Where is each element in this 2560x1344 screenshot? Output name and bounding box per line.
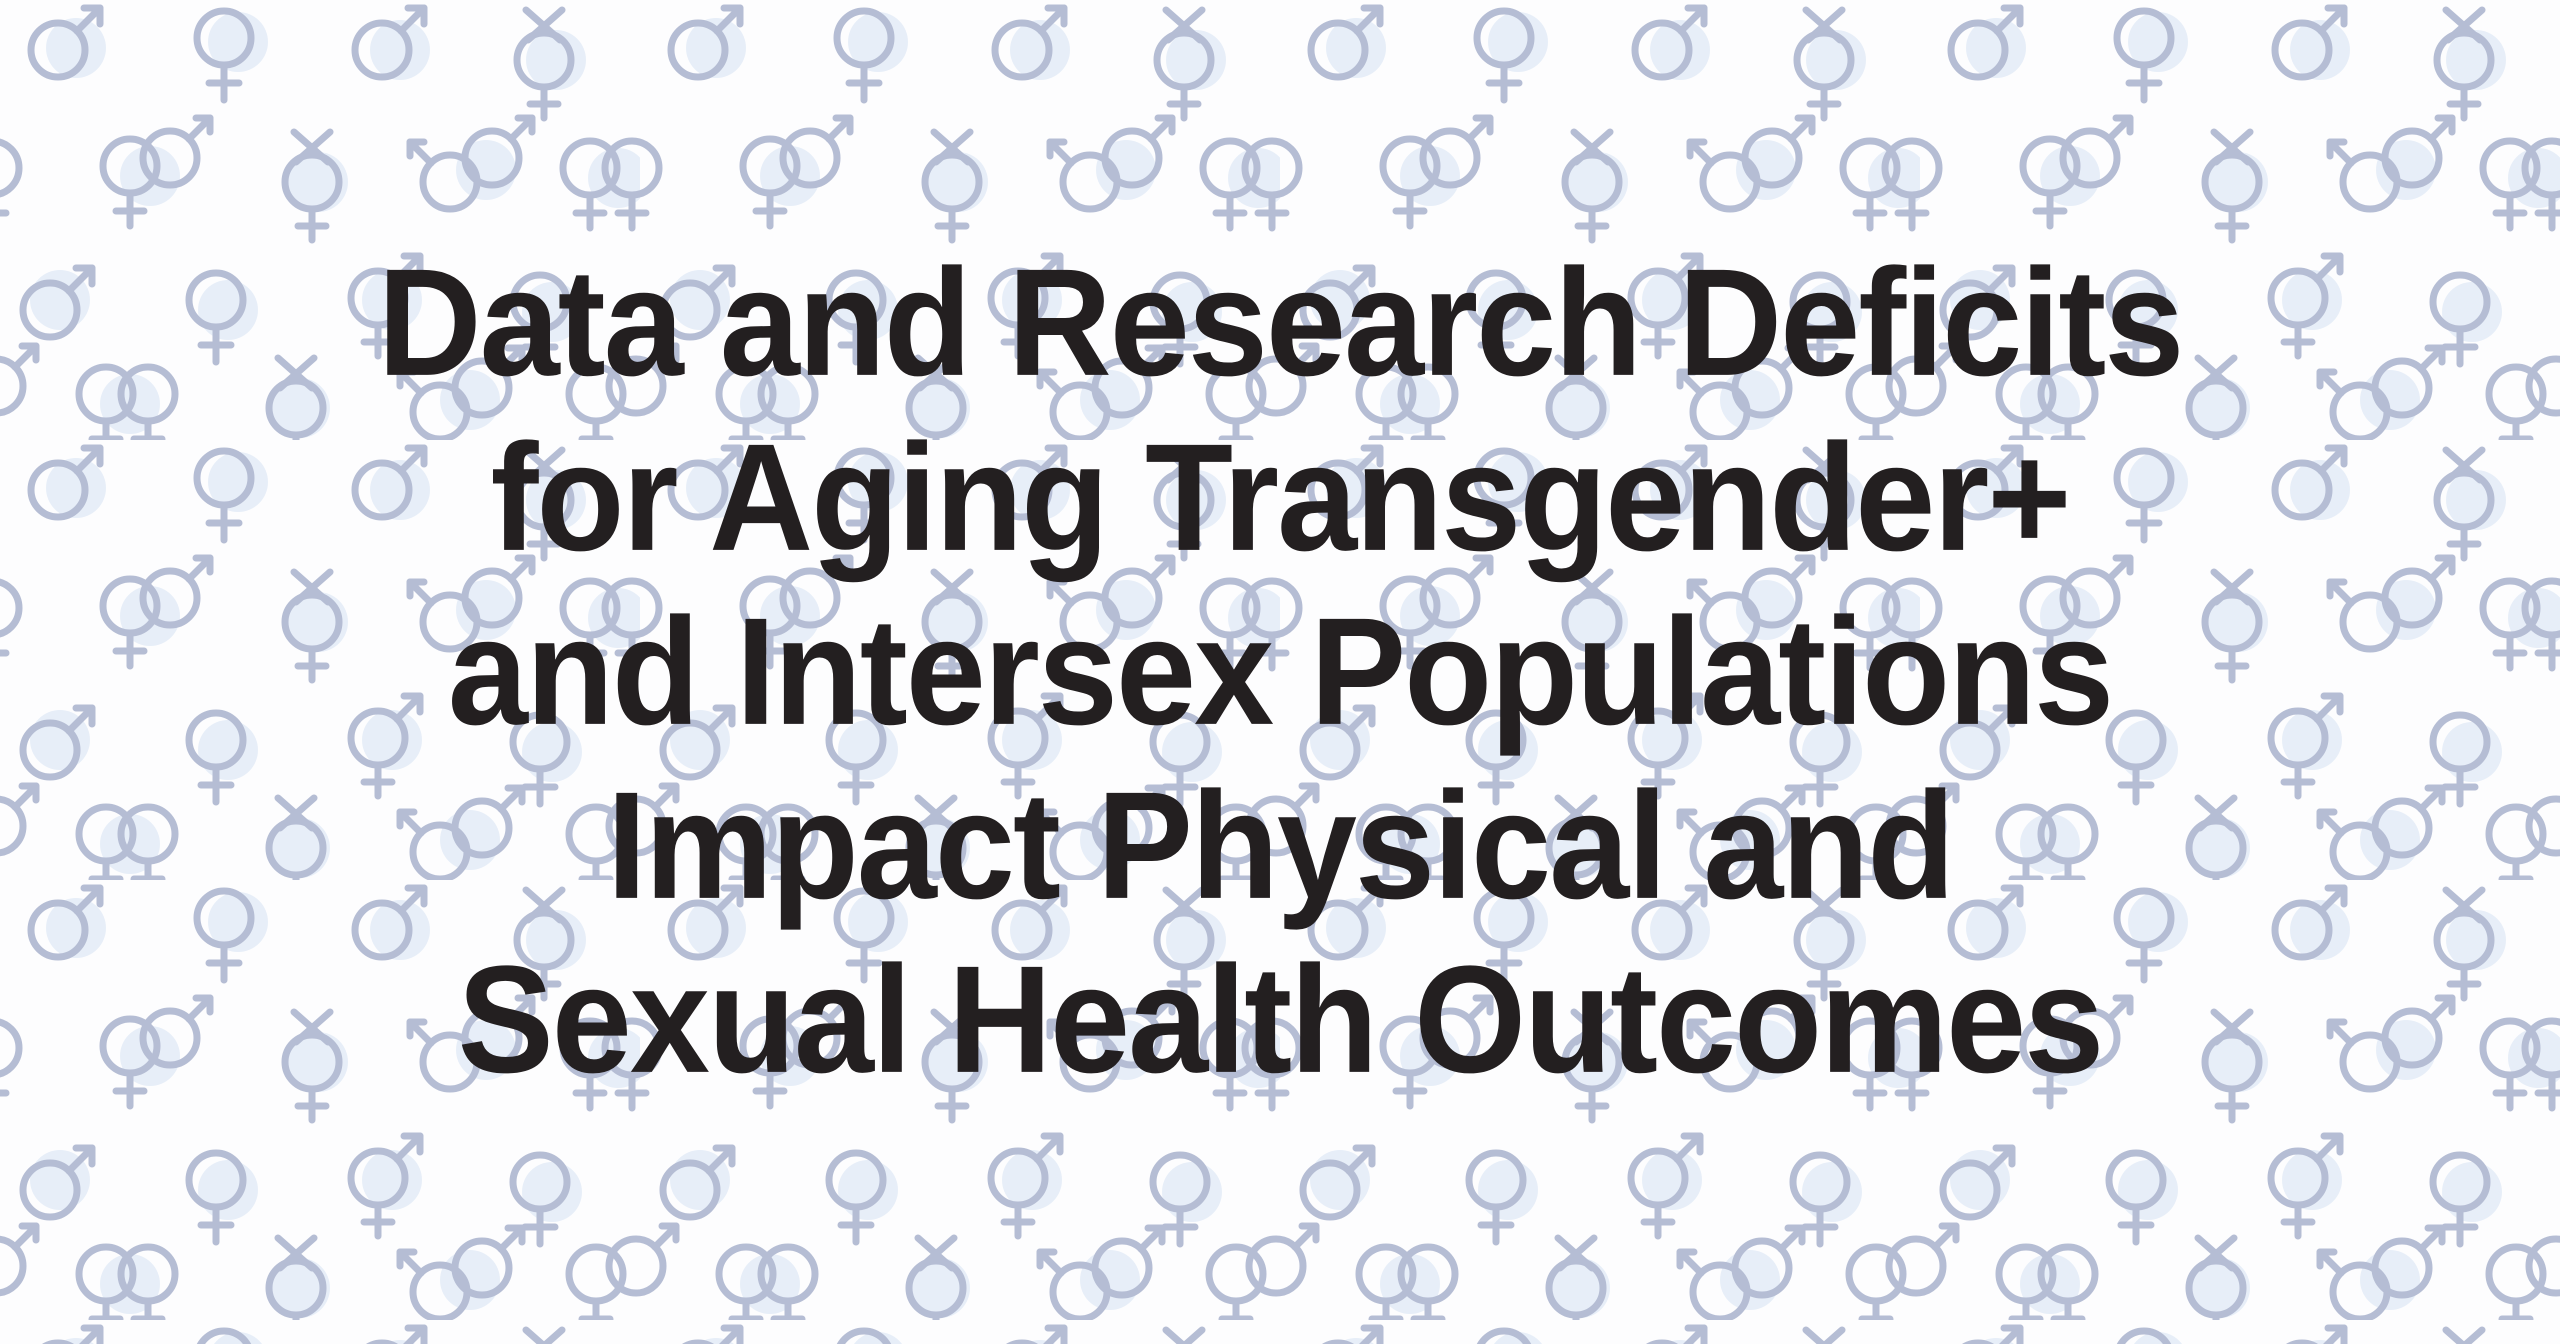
- title-line-5: Sexual Health Outcomes: [90, 928, 2470, 1113]
- title-line-1: Data and Research Deficits: [90, 231, 2470, 416]
- title-line-3: and Intersex Populations: [90, 580, 2470, 765]
- title-line-2: for Aging Transgender+: [90, 405, 2470, 590]
- page-title: Data and Research Deficits for Aging Tra…: [0, 0, 2560, 1344]
- title-line-4: Impact Physical and: [90, 754, 2470, 939]
- title-banner: Data and Research Deficits for Aging Tra…: [0, 0, 2560, 1344]
